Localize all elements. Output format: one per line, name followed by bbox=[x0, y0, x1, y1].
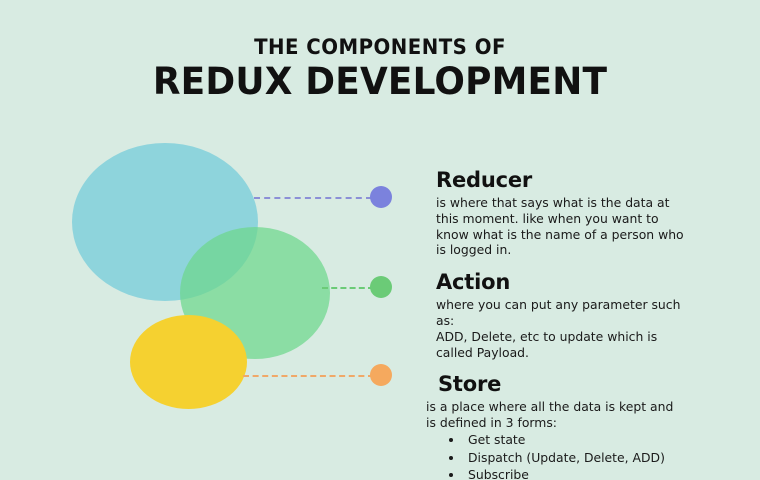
reducer-description: is where that says what is the data at t… bbox=[436, 195, 736, 258]
list-item: Dispatch (Update, Delete, ADD) bbox=[464, 449, 736, 467]
list-item: Get state bbox=[464, 431, 736, 449]
action-heading: Action bbox=[436, 270, 736, 294]
list-item: Subscribe bbox=[464, 466, 736, 480]
store-blob bbox=[130, 315, 247, 409]
reducer-connector-line bbox=[254, 197, 372, 199]
action-description: where you can put any parameter such as:… bbox=[436, 297, 736, 360]
store-bullet-list: Get state Dispatch (Update, Delete, ADD)… bbox=[426, 431, 736, 480]
reducer-heading: Reducer bbox=[436, 168, 736, 192]
section-action: Action where you can put any parameter s… bbox=[426, 270, 736, 360]
action-node-dot bbox=[370, 276, 392, 298]
store-heading: Store bbox=[438, 372, 736, 396]
store-description: is a place where all the data is kept an… bbox=[426, 399, 736, 431]
section-store: Store is a place where all the data is k… bbox=[426, 372, 736, 480]
infographic-canvas: THE COMPONENTS OF REDUX DEVELOPMENT Redu… bbox=[0, 0, 760, 480]
title-overline: THE COMPONENTS OF bbox=[23, 36, 737, 58]
section-reducer: Reducer is where that says what is the d… bbox=[426, 168, 736, 258]
page-title: REDUX DEVELOPMENT bbox=[11, 61, 748, 102]
store-node-dot bbox=[370, 364, 392, 386]
reducer-node-dot bbox=[370, 186, 392, 208]
title-block: THE COMPONENTS OF REDUX DEVELOPMENT bbox=[0, 36, 760, 102]
action-connector-line bbox=[322, 287, 374, 289]
store-connector-line bbox=[243, 375, 374, 377]
content-column: Reducer is where that says what is the d… bbox=[426, 168, 736, 480]
